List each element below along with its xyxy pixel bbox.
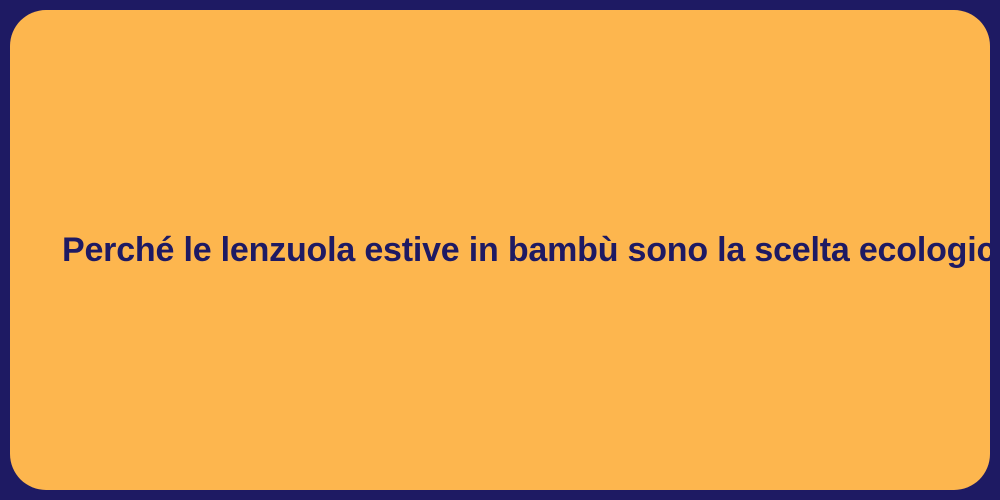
- outer-border-frame: Perché le lenzuola estive in bambù sono …: [0, 0, 1000, 500]
- page-title: Perché le lenzuola estive in bambù sono …: [62, 229, 938, 272]
- card-body: Perché le lenzuola estive in bambù sono …: [10, 229, 990, 272]
- content-card: Perché le lenzuola estive in bambù sono …: [10, 10, 990, 490]
